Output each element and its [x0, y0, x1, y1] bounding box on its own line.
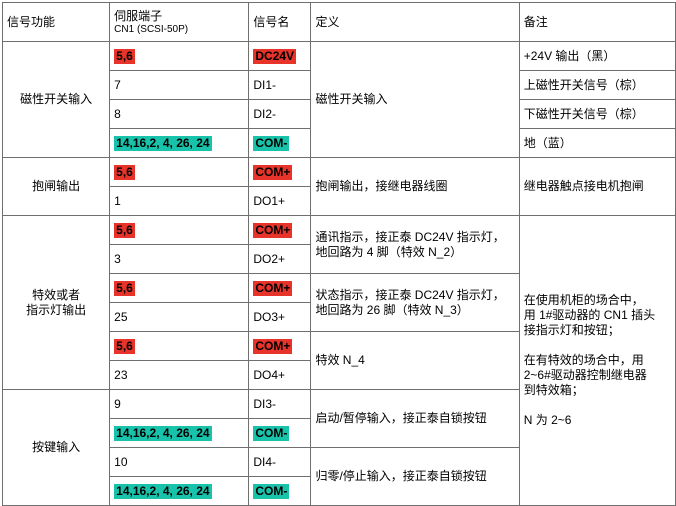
cell-definition: 归零/停止输入，接正泰自锁按钮 — [311, 448, 519, 506]
cell-signal: DI4- — [249, 448, 311, 477]
cell-signal: DI2- — [249, 100, 311, 129]
cell-signal: DI1- — [249, 71, 311, 100]
cell-function: 磁性开关输入 — [3, 42, 110, 158]
pin-value: 5,6 — [114, 223, 135, 238]
signal-value: COM- — [253, 426, 289, 441]
cell-pin: 14,16,2, 4, 26, 24 — [110, 419, 249, 448]
header-definition: 定义 — [311, 3, 519, 42]
signal-value: DO2+ — [253, 252, 285, 266]
cell-pin: 8 — [110, 100, 249, 129]
pin-value: 5,6 — [114, 165, 135, 180]
cell-note: 继电器触点接电机抱闸 — [519, 158, 675, 216]
signal-value: COM+ — [253, 223, 292, 238]
signal-value: DO3+ — [253, 310, 285, 324]
cell-pin: 5,6 — [110, 216, 249, 245]
cell-pin: 1 — [110, 187, 249, 216]
pin-value: 7 — [114, 78, 121, 92]
signal-value: DI2- — [253, 107, 276, 121]
header-note: 备注 — [519, 3, 675, 42]
cell-note: 下磁性开关信号（棕） — [519, 100, 675, 129]
pin-value: 23 — [114, 368, 127, 382]
signal-value: COM+ — [253, 339, 292, 354]
header-port-sub: CN1 (SCSI-50P) — [114, 24, 244, 36]
header-port-main: 伺服端子 — [114, 9, 162, 23]
cell-signal: DI3- — [249, 390, 311, 419]
cell-note: 地（蓝） — [519, 129, 675, 158]
cell-pin: 5,6 — [110, 332, 249, 361]
cell-pin: 9 — [110, 390, 249, 419]
cell-function: 抱闸输出 — [3, 158, 110, 216]
cell-pin: 14,16,2, 4, 26, 24 — [110, 129, 249, 158]
cell-signal: DO2+ — [249, 245, 311, 274]
cell-signal: COM- — [249, 477, 311, 506]
signal-definition-table: 信号功能 伺服端子 CN1 (SCSI-50P) 信号名 定义 备注 磁性开关输… — [2, 2, 676, 506]
signal-value: DI4- — [253, 455, 276, 469]
cell-note: 上磁性开关信号（棕） — [519, 71, 675, 100]
header-port: 伺服端子 CN1 (SCSI-50P) — [110, 3, 249, 42]
signal-value: DO1+ — [253, 194, 285, 208]
cell-signal: DO3+ — [249, 303, 311, 332]
cell-function: 按键输入 — [3, 390, 110, 506]
pin-value: 14,16,2, 4, 26, 24 — [114, 136, 211, 151]
note-line-6: 2~6#驱动器控制继电器 — [524, 368, 647, 382]
cell-signal: COM+ — [249, 274, 311, 303]
pin-value: 14,16,2, 4, 26, 24 — [114, 484, 211, 499]
signal-value: COM+ — [253, 281, 292, 296]
signal-value: COM- — [253, 136, 289, 151]
signal-value: DO4+ — [253, 368, 285, 382]
cell-note-block: 在使用机柜的场合中， 用 1#驱动器的 CN1 插头 接指示灯和按钮； 在有特效… — [519, 216, 675, 506]
header-function: 信号功能 — [3, 3, 110, 42]
note-line-2: 用 1#驱动器的 CN1 插头 — [524, 308, 655, 322]
cell-pin: 5,6 — [110, 42, 249, 71]
cell-pin: 3 — [110, 245, 249, 274]
pin-value: 8 — [114, 107, 121, 121]
pin-value: 1 — [114, 194, 121, 208]
note-line-1: 在使用机柜的场合中， — [524, 293, 644, 307]
pin-value: 9 — [114, 397, 121, 411]
cell-definition: 通讯指示，接正泰 DC24V 指示灯，地回路为 4 脚（特效 N_2） — [311, 216, 519, 274]
note-line-5: 在有特效的场合中，用 — [524, 353, 644, 367]
table-row: 特效或者指示灯输出 5,6 COM+ 通讯指示，接正泰 DC24V 指示灯，地回… — [3, 216, 676, 245]
signal-value: DC24V — [253, 49, 296, 64]
pin-value: 5,6 — [114, 339, 135, 354]
table-row: 磁性开关输入 5,6 DC24V 磁性开关输入 +24V 输出（黑） — [3, 42, 676, 71]
cell-definition: 抱闸输出，接继电器线圈 — [311, 158, 519, 216]
cell-pin: 5,6 — [110, 158, 249, 187]
cell-signal: DC24V — [249, 42, 311, 71]
table-header-row: 信号功能 伺服端子 CN1 (SCSI-50P) 信号名 定义 备注 — [3, 3, 676, 42]
cell-definition: 特效 N_4 — [311, 332, 519, 390]
pin-value: 10 — [114, 455, 127, 469]
pin-value: 25 — [114, 310, 127, 324]
cell-pin: 7 — [110, 71, 249, 100]
note-line-9: N 为 2~6 — [524, 413, 572, 427]
cell-function: 特效或者指示灯输出 — [3, 216, 110, 390]
note-line-3: 接指示灯和按钮； — [524, 323, 620, 337]
header-signal: 信号名 — [249, 3, 311, 42]
table-row: 抱闸输出 5,6 COM+ 抱闸输出，接继电器线圈 继电器触点接电机抱闸 — [3, 158, 676, 187]
cell-signal: COM- — [249, 419, 311, 448]
cell-signal: COM+ — [249, 158, 311, 187]
pin-value: 3 — [114, 252, 121, 266]
signal-value: DI1- — [253, 78, 276, 92]
cell-signal: COM- — [249, 129, 311, 158]
note-line-7: 到特效箱； — [524, 383, 584, 397]
signal-value: COM+ — [253, 165, 292, 180]
cell-pin: 10 — [110, 448, 249, 477]
cell-pin: 14,16,2, 4, 26, 24 — [110, 477, 249, 506]
signal-value: DI3- — [253, 397, 276, 411]
cell-definition: 状态指示，接正泰 DC24V 指示灯，地回路为 26 脚（特效 N_3） — [311, 274, 519, 332]
pin-value: 14,16,2, 4, 26, 24 — [114, 426, 211, 441]
cell-definition: 磁性开关输入 — [311, 42, 519, 158]
cell-pin: 25 — [110, 303, 249, 332]
cell-signal: DO1+ — [249, 187, 311, 216]
cell-note: +24V 输出（黑） — [519, 42, 675, 71]
cell-signal: COM+ — [249, 216, 311, 245]
cell-pin: 23 — [110, 361, 249, 390]
pin-value: 5,6 — [114, 281, 135, 296]
cell-definition: 启动/暂停输入，接正泰自锁按钮 — [311, 390, 519, 448]
cell-pin: 5,6 — [110, 274, 249, 303]
signal-value: COM- — [253, 484, 289, 499]
cell-signal: COM+ — [249, 332, 311, 361]
pin-value: 5,6 — [114, 49, 135, 64]
cell-signal: DO4+ — [249, 361, 311, 390]
